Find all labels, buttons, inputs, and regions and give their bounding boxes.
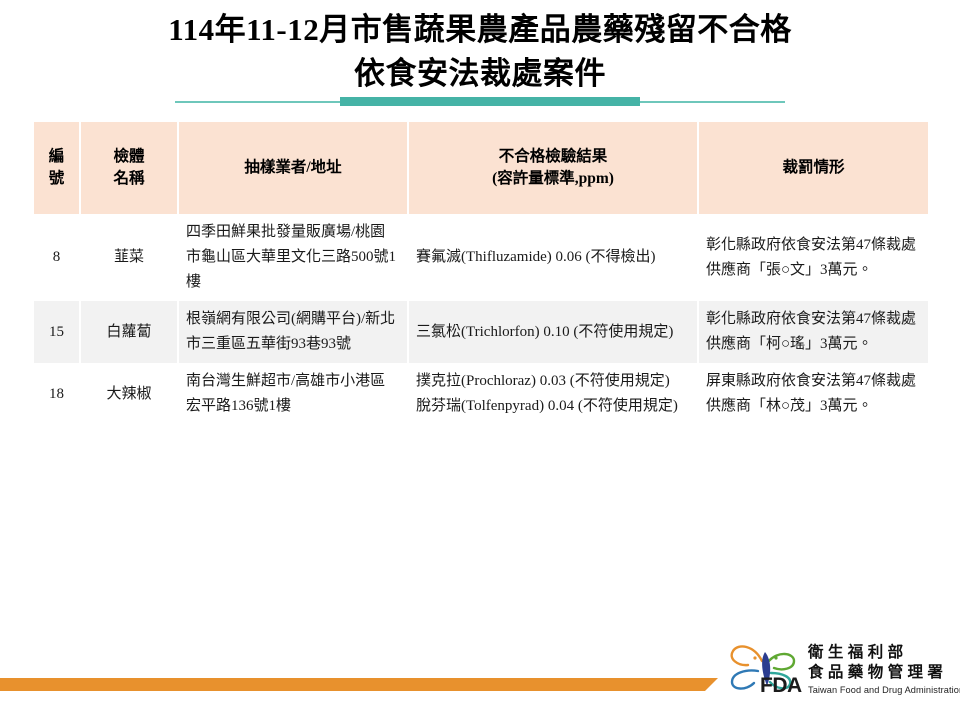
result-line: 賽氟滅(Thifluzamide) 0.06 (不得檢出) [416, 245, 690, 270]
fda-agency-name-english: Taiwan Food and Drug Administration [808, 684, 956, 696]
column-header-results-line-1: 不合格檢驗結果 [499, 148, 608, 165]
table-header-row: 編 號 檢體 名稱 抽樣業者/地址 不合格檢驗結果 (容許量標準,ppm) 裁罰… [34, 122, 928, 214]
fda-agency-name: 衛生福利部 食品藥物管理署 Taiwan Food and Drug Admin… [808, 643, 956, 696]
page-title-line-1: 114年11-12月市售蔬果農產品農藥殘留不合格 [0, 8, 960, 52]
column-header-penalty: 裁罰情形 [698, 122, 928, 214]
cell-vendor-address: 根嶺網有限公司(網購平台)/新北市三重區五華街93巷93號 [178, 301, 408, 363]
column-header-penalty-line-1: 裁罰情形 [782, 159, 844, 176]
divider-thick-line [340, 97, 640, 106]
cell-number: 8 [34, 214, 80, 301]
fda-logo: FDA 衛生福利部 食品藥物管理署 Taiwan Food and Drug A… [722, 641, 954, 703]
fda-abbr-text: FDA [760, 674, 802, 698]
page-title: 114年11-12月市售蔬果農產品農藥殘留不合格 依食安法裁處案件 [0, 8, 960, 96]
column-header-vendor-address: 抽樣業者/地址 [178, 122, 408, 214]
column-header-results-line-2: (容許量標準,ppm) [492, 170, 614, 187]
fda-agency-name-line-2: 食品藥物管理署 [808, 663, 956, 683]
title-divider [0, 96, 960, 108]
cell-sample-name: 大辣椒 [80, 363, 178, 425]
cell-results: 撲克拉(Prochloraz) 0.03 (不符使用規定) 脫芬瑞(Tolfen… [408, 363, 698, 425]
column-header-sample-name-line-1: 檢體 [113, 148, 144, 165]
footer-accent-bar [0, 678, 718, 691]
cell-vendor-address: 南台灣生鮮超市/高雄市小港區宏平路136號1樓 [178, 363, 408, 425]
cell-penalty: 彰化縣政府依食安法第47條裁處供應商「張○文」3萬元。 [698, 214, 928, 301]
cell-number: 15 [34, 301, 80, 363]
cell-number: 18 [34, 363, 80, 425]
fda-agency-name-line-1: 衛生福利部 [808, 643, 956, 663]
cell-results: 三氯松(Trichlorfon) 0.10 (不符使用規定) [408, 301, 698, 363]
cell-sample-name: 韮菜 [80, 214, 178, 301]
column-header-number-line-1: 編 [49, 148, 65, 165]
cell-results: 賽氟滅(Thifluzamide) 0.06 (不得檢出) [408, 214, 698, 301]
cell-sample-name: 白蘿蔔 [80, 301, 178, 363]
cell-penalty: 屏東縣政府依食安法第47條裁處供應商「林○茂」3萬元。 [698, 363, 928, 425]
column-header-vendor-address-line-1: 抽樣業者/地址 [244, 159, 341, 176]
column-header-results: 不合格檢驗結果 (容許量標準,ppm) [408, 122, 698, 214]
column-header-sample-name-line-2: 名稱 [113, 170, 144, 187]
page-title-line-2: 依食安法裁處案件 [0, 52, 960, 96]
cell-vendor-address: 四季田鮮果批發量販廣場/桃園市龜山區大華里文化三路500號1樓 [178, 214, 408, 301]
result-line: 脫芬瑞(Tolfenpyrad) 0.04 (不符使用規定) [416, 394, 690, 419]
column-header-sample-name: 檢體 名稱 [80, 122, 178, 214]
table-row: 18 大辣椒 南台灣生鮮超市/高雄市小港區宏平路136號1樓 撲克拉(Proch… [34, 363, 928, 425]
result-line: 撲克拉(Prochloraz) 0.03 (不符使用規定) [416, 369, 690, 394]
result-line: 三氯松(Trichlorfon) 0.10 (不符使用規定) [416, 320, 690, 345]
column-header-number-line-2: 號 [49, 170, 65, 187]
violation-table: 編 號 檢體 名稱 抽樣業者/地址 不合格檢驗結果 (容許量標準,ppm) 裁罰… [34, 122, 928, 425]
table-row: 15 白蘿蔔 根嶺網有限公司(網購平台)/新北市三重區五華街93巷93號 三氯松… [34, 301, 928, 363]
column-header-number: 編 號 [34, 122, 80, 214]
table-row: 8 韮菜 四季田鮮果批發量販廣場/桃園市龜山區大華里文化三路500號1樓 賽氟滅… [34, 214, 928, 301]
cell-penalty: 彰化縣政府依食安法第47條裁處供應商「柯○瑤」3萬元。 [698, 301, 928, 363]
